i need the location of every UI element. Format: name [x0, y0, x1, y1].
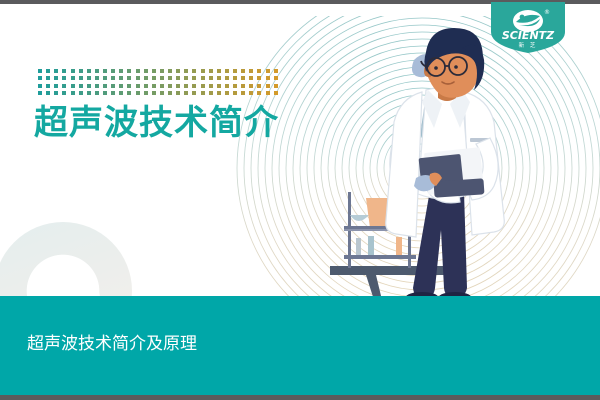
dot-grid-cell: [266, 91, 270, 95]
page-title: 超声波技术简介: [34, 103, 279, 143]
dot-grid-cell: [127, 91, 131, 95]
dot-grid-cell: [201, 91, 205, 95]
dot-grid-cell: [103, 69, 107, 73]
dot-grid-cell: [168, 69, 172, 73]
dot-grid-cell: [144, 84, 148, 88]
dot-grid-cell: [217, 91, 221, 95]
dot-grid-cell: [46, 91, 50, 95]
dot-grid-cell: [201, 69, 205, 73]
dot-grid-cell: [136, 91, 140, 95]
dot-grid-cell: [62, 76, 66, 80]
dot-grid-cell: [241, 84, 245, 88]
dot-grid-cell: [136, 76, 140, 80]
scientist-illustration: [330, 20, 600, 300]
dot-grid-cell: [103, 76, 107, 80]
dot-grid-cell: [274, 91, 278, 95]
dot-grid-cell: [152, 91, 156, 95]
dot-grid-cell: [111, 69, 115, 73]
dot-grid-cell: [184, 91, 188, 95]
dot-grid-cell: [95, 69, 99, 73]
dot-grid-cell: [127, 84, 131, 88]
logo-sub-brand: 新 芝: [519, 41, 538, 49]
dot-grid-cell: [79, 91, 83, 95]
dot-grid-cell: [266, 69, 270, 73]
dot-grid-cell: [192, 69, 196, 73]
dot-grid-cell: [225, 91, 229, 95]
dot-grid-cell: [87, 91, 91, 95]
logo-brand-text: SCIENTZ: [502, 29, 555, 42]
dot-grid-cell: [201, 84, 205, 88]
dot-grid-cell: [274, 76, 278, 80]
dot-grid-cell: [62, 69, 66, 73]
dot-grid-cell: [257, 76, 261, 80]
dot-grid-cell: [266, 84, 270, 88]
dot-grid-cell: [54, 91, 58, 95]
dot-grid-cell: [87, 84, 91, 88]
dot-grid-cell: [168, 76, 172, 80]
dot-grid-cell: [257, 91, 261, 95]
dot-grid-cell: [46, 76, 50, 80]
dot-grid-cell: [233, 69, 237, 73]
dot-grid-cell: [95, 91, 99, 95]
footer-caption: 超声波技术简介及原理: [27, 332, 197, 356]
dot-grid-cell: [217, 84, 221, 88]
dot-grid-cell: [249, 91, 253, 95]
dot-grid-cell: [249, 84, 253, 88]
dot-grid-row: [38, 91, 278, 95]
dot-grid-cell: [152, 69, 156, 73]
dot-grid-cell: [217, 69, 221, 73]
dot-grid-decoration: [38, 69, 278, 95]
dot-grid-cell: [233, 76, 237, 80]
dot-grid-cell: [127, 69, 131, 73]
dot-grid-cell: [225, 76, 229, 80]
dot-grid-cell: [152, 76, 156, 80]
dot-grid-cell: [119, 84, 123, 88]
dot-grid-cell: [209, 69, 213, 73]
dot-grid-cell: [201, 76, 205, 80]
dot-grid-cell: [38, 84, 42, 88]
dot-grid-cell: [54, 76, 58, 80]
dot-grid-cell: [209, 91, 213, 95]
dot-grid-cell: [38, 91, 42, 95]
dot-grid-cell: [62, 91, 66, 95]
dot-grid-cell: [168, 91, 172, 95]
dot-grid-cell: [111, 76, 115, 80]
dot-grid-cell: [266, 76, 270, 80]
head: [421, 28, 484, 98]
dot-grid-cell: [136, 84, 140, 88]
dot-grid-cell: [249, 69, 253, 73]
dot-grid-cell: [111, 84, 115, 88]
dot-grid-cell: [79, 69, 83, 73]
dot-grid-cell: [241, 91, 245, 95]
dot-grid-cell: [38, 76, 42, 80]
dot-grid-cell: [79, 76, 83, 80]
dot-grid-cell: [87, 69, 91, 73]
dot-grid-cell: [176, 69, 180, 73]
dot-grid-cell: [184, 69, 188, 73]
dot-grid-cell: [54, 84, 58, 88]
dot-grid-cell: [46, 69, 50, 73]
window-bottom-bar: [0, 395, 600, 400]
logo-trademark: ®: [544, 9, 550, 16]
dot-grid-row: [38, 84, 278, 88]
dot-grid-cell: [225, 69, 229, 73]
dot-grid-cell: [136, 69, 140, 73]
dot-grid-cell: [87, 76, 91, 80]
dot-grid-cell: [71, 76, 75, 80]
dot-grid-cell: [119, 76, 123, 80]
dot-grid-cell: [103, 91, 107, 95]
dot-grid-cell: [176, 76, 180, 80]
dot-grid-cell: [249, 76, 253, 80]
dot-grid-row: [38, 76, 278, 80]
dot-grid-cell: [95, 84, 99, 88]
dot-grid-cell: [184, 76, 188, 80]
dot-grid-cell: [274, 84, 278, 88]
dot-grid-cell: [62, 84, 66, 88]
dot-grid-cell: [257, 69, 261, 73]
dot-grid-cell: [144, 91, 148, 95]
dot-grid-row: [38, 69, 278, 73]
dot-grid-cell: [160, 69, 164, 73]
dot-grid-cell: [176, 84, 180, 88]
dot-grid-cell: [144, 69, 148, 73]
dot-grid-cell: [257, 84, 261, 88]
dot-grid-cell: [209, 84, 213, 88]
dot-grid-cell: [192, 91, 196, 95]
dot-grid-cell: [209, 76, 213, 80]
dot-grid-cell: [192, 84, 196, 88]
slide-canvas: 超声波技术简介: [0, 0, 600, 400]
dot-grid-cell: [241, 69, 245, 73]
dot-grid-cell: [71, 69, 75, 73]
dot-grid-cell: [225, 84, 229, 88]
dot-grid-cell: [233, 91, 237, 95]
dot-grid-cell: [95, 76, 99, 80]
dot-grid-cell: [111, 91, 115, 95]
clipboard: [414, 147, 484, 198]
dot-grid-cell: [160, 84, 164, 88]
dot-grid-cell: [127, 76, 131, 80]
scientz-logo[interactable]: SCIENTZ ® 新 芝: [489, 2, 567, 54]
dot-grid-cell: [274, 69, 278, 73]
dot-grid-cell: [160, 91, 164, 95]
dot-grid-cell: [46, 84, 50, 88]
dot-grid-cell: [184, 84, 188, 88]
dot-grid-cell: [192, 76, 196, 80]
dot-grid-cell: [119, 91, 123, 95]
dot-grid-cell: [71, 91, 75, 95]
dot-grid-cell: [176, 91, 180, 95]
dot-grid-cell: [241, 76, 245, 80]
dot-grid-cell: [103, 84, 107, 88]
dot-grid-cell: [79, 84, 83, 88]
dot-grid-cell: [233, 84, 237, 88]
dot-grid-cell: [54, 69, 58, 73]
dot-grid-cell: [38, 69, 42, 73]
dot-grid-cell: [71, 84, 75, 88]
dot-grid-cell: [119, 69, 123, 73]
dot-grid-cell: [168, 84, 172, 88]
dot-grid-cell: [160, 76, 164, 80]
dot-grid-cell: [144, 76, 148, 80]
dot-grid-cell: [152, 84, 156, 88]
dot-grid-cell: [217, 76, 221, 80]
